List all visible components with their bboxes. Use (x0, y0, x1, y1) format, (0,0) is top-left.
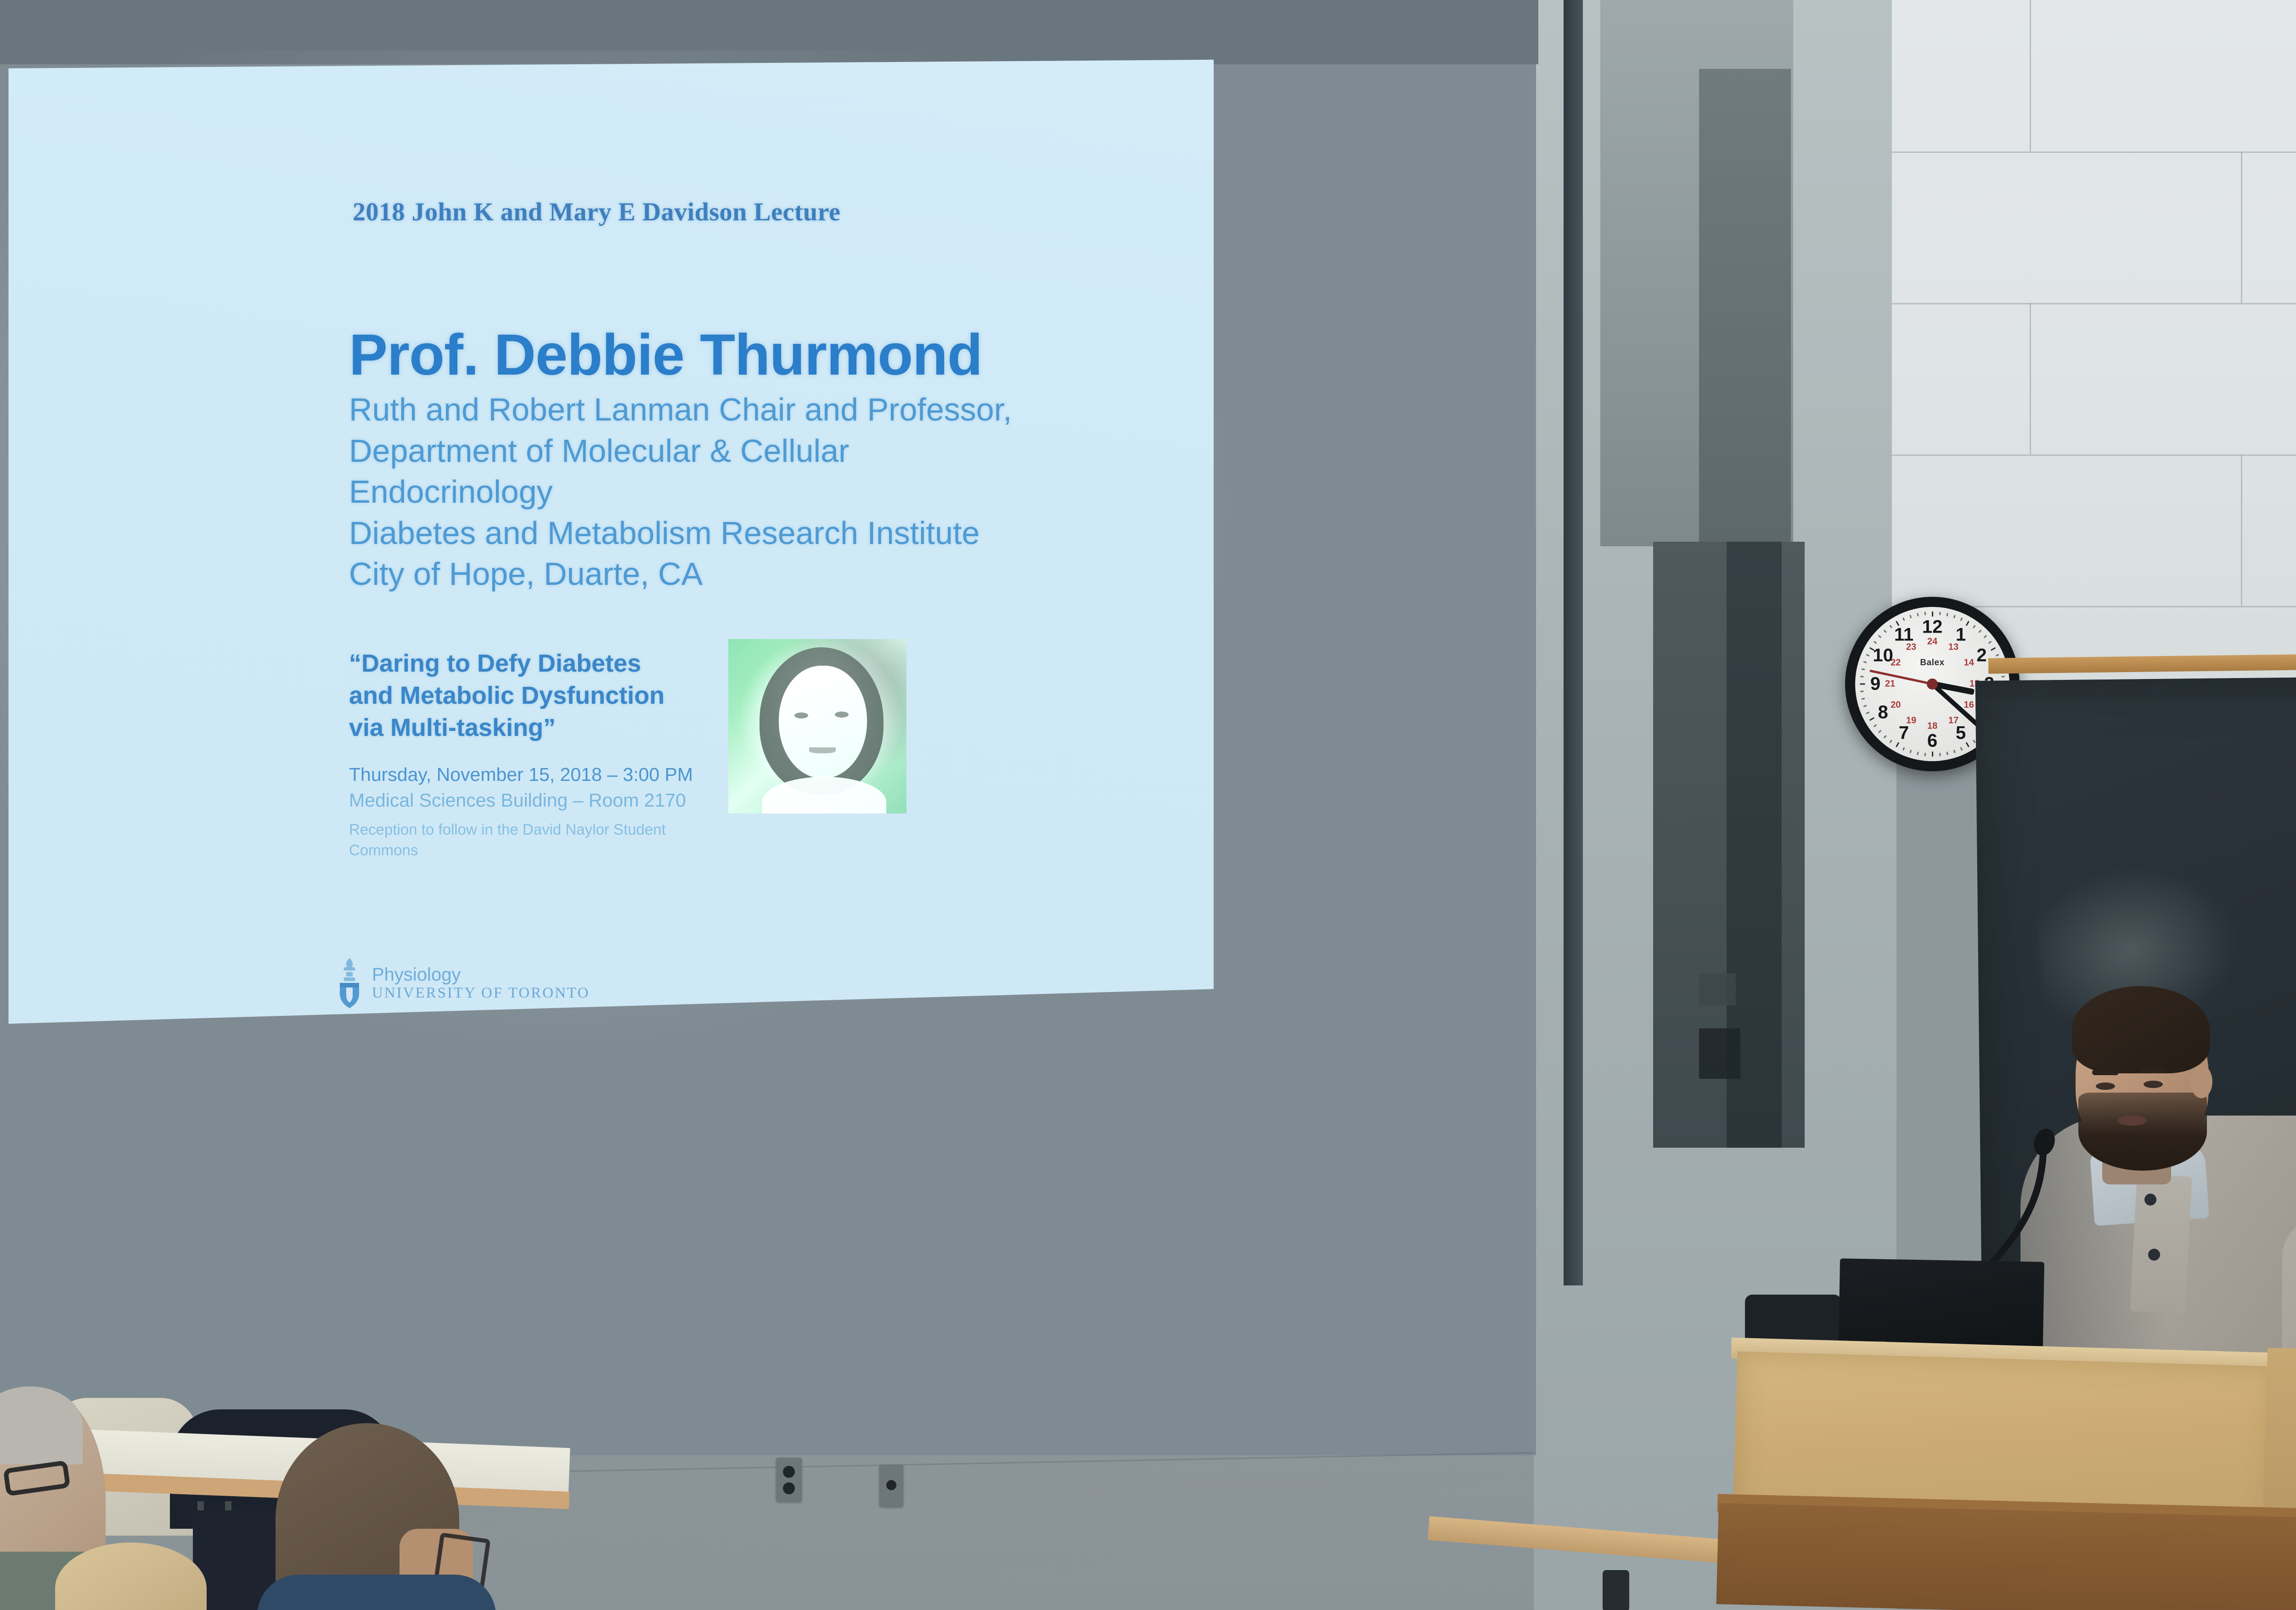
jack-port (886, 1480, 896, 1490)
portrait-eye-right (835, 712, 849, 718)
clock-tick (1902, 747, 1905, 751)
projected-slide: 2018 John K and Mary E Davidson Lecture … (4, 60, 1214, 1024)
speaker-beard (2078, 1093, 2207, 1171)
clock-tick (1889, 740, 1892, 743)
speaker-ear (2190, 1065, 2212, 1098)
clock-tick (1860, 684, 1865, 685)
speaker-button-placket (2130, 1174, 2192, 1314)
speaker-brow-left (2092, 1070, 2119, 1075)
single-port-wall-jack[interactable] (879, 1464, 903, 1507)
clock-tick (1883, 630, 1886, 633)
clock-brand-label: Balex (1920, 658, 1944, 668)
clock-tick (1960, 617, 1963, 621)
clock-numeral-6: 6 (1927, 731, 1937, 752)
speaker-brow-right (2140, 1068, 2167, 1073)
speaker-button-top (2144, 1194, 2156, 1206)
doorway-recess (1699, 69, 1791, 546)
clock-numeral24-24: 24 (1927, 637, 1937, 647)
clock-tick (1873, 641, 1876, 644)
clock-tick (1995, 654, 1999, 656)
clock-tick (2001, 676, 2004, 678)
clock-numeral-2: 2 (1976, 645, 1986, 666)
clock-numeral24-13: 13 (1948, 642, 1958, 653)
clock-numeral-12: 12 (1922, 617, 1943, 638)
duplex-power-outlet[interactable] (776, 1458, 802, 1502)
clock-tick (1861, 698, 1864, 700)
clock-tick (1866, 712, 1869, 714)
door-frame (1564, 0, 1583, 1285)
clock-tick (1866, 654, 1869, 656)
portrait-eye-left (794, 712, 808, 718)
slide-speaker-name: Prof. Debbie Thurmond (349, 321, 982, 388)
clock-tick (1953, 750, 1955, 753)
speaker-button-bottom (2148, 1249, 2160, 1261)
clock-tick (1991, 647, 1996, 651)
clock-tick (1965, 742, 1969, 747)
slide-date-time: Thursday, November 15, 2018 – 3:00 PM (349, 762, 698, 788)
clock-tick (1946, 613, 1948, 616)
affiliation-line-5: City of Hope, Duarte, CA (349, 554, 1012, 595)
clock-tick (1860, 690, 1863, 692)
clock-tick (1983, 635, 1986, 638)
clock-tick (1873, 724, 1876, 728)
speaker-eye-left (2096, 1083, 2115, 1090)
uoft-physiology-logo: Physiology UNIVERSITY OF TORONTO (335, 957, 590, 1009)
clock-tick (1860, 676, 1863, 678)
clock-numeral24-19: 19 (1906, 715, 1916, 726)
clock-numeral24-14: 14 (1964, 658, 1974, 668)
slide-speaker-portrait (728, 639, 906, 813)
clock-tick (1988, 641, 1991, 644)
affiliation-line-3: Endocrinology (349, 471, 1012, 513)
clock-tick (1878, 730, 1881, 733)
clock-tick (1902, 617, 1905, 621)
wall-sign-plate-lower (1699, 1028, 1740, 1079)
affiliation-line-2: Department of Molecular & Cellular (349, 431, 1012, 472)
clock-numeral24-22: 22 (1891, 658, 1901, 668)
clock-numeral-5: 5 (1956, 723, 1966, 744)
clock-tick (1917, 752, 1919, 755)
clock-tick (1889, 625, 1892, 628)
wall-sign-plate-upper (1699, 973, 1736, 1005)
clock-tick (1863, 705, 1867, 707)
clock-numeral24-20: 20 (1891, 700, 1901, 711)
clock-tick (1932, 611, 1933, 617)
clock-tick (1883, 735, 1886, 738)
clock-tick (1939, 612, 1941, 615)
clock-numeral-7: 7 (1899, 723, 1909, 744)
clock-center-cap (1927, 679, 1938, 690)
speaker-eye-right (2144, 1081, 2163, 1088)
clock-tick (1863, 661, 1867, 663)
slide-eyebrow-lecture-series: 2018 John K and Mary E Davidson Lecture (353, 197, 840, 227)
slide-affiliation: Ruth and Robert Lanman Chair and Profess… (349, 389, 1012, 595)
clock-tick (1909, 750, 1912, 753)
clock-tick (1924, 612, 1926, 615)
lecture-hall-scene: 2018 John K and Mary E Davidson Lecture … (0, 0, 2296, 1610)
clock-tick (1973, 740, 1976, 743)
clock-tick (1973, 625, 1976, 628)
clock-numeral24-16: 16 (1964, 700, 1974, 711)
clock-tick (1965, 621, 1969, 626)
outlet-socket-lower (783, 1482, 795, 1494)
clock-numeral24-23: 23 (1906, 642, 1916, 653)
outlet-socket-upper (783, 1466, 795, 1478)
clock-numeral24-18: 18 (1927, 721, 1937, 732)
portrait-mouth (809, 747, 836, 753)
clock-tick (1861, 668, 1864, 670)
clock-numeral-10: 10 (1873, 645, 1893, 666)
speaker-mouth (2118, 1116, 2146, 1126)
clock-numeral-8: 8 (1878, 702, 1888, 723)
slide-content: 2018 John K and Mary E Davidson Lecture … (4, 60, 1214, 1024)
clock-tick (1932, 752, 1933, 757)
clock-tick (1924, 753, 1926, 756)
portrait-shoulders (762, 777, 886, 813)
logo-university: UNIVERSITY OF TORONTO (372, 986, 590, 1001)
projection-screen-header-bar (0, 0, 1538, 64)
slide-reception-note: Reception to follow in the David Naylor … (349, 819, 712, 861)
clock-numeral24-21: 21 (1885, 679, 1895, 690)
clock-tick (1878, 635, 1881, 638)
logo-department: Physiology (372, 965, 590, 984)
rail-stand-post (1603, 1570, 1629, 1610)
clock-numeral-9: 9 (1870, 674, 1880, 695)
clock-tick (1909, 615, 1912, 618)
affiliation-line-1: Ruth and Robert Lanman Chair and Profess… (349, 389, 1012, 431)
audience-shoulders-blue (257, 1575, 496, 1610)
portrait-face (779, 666, 867, 779)
speaker-hair (2072, 986, 2210, 1073)
clock-tick (1939, 753, 1941, 756)
clock-tick (1946, 752, 1948, 755)
slide-talk-title: “Daring to Defy Diabetes and Metabolic D… (349, 647, 680, 744)
clock-tick (1978, 630, 1981, 633)
affiliation-line-4: Diabetes and Metabolism Research Institu… (349, 513, 1012, 554)
clock-numeral24-17: 17 (1948, 715, 1958, 726)
podium-base (1716, 1503, 2296, 1610)
clock-tick (1869, 717, 1874, 721)
slide-event-details: Thursday, November 15, 2018 – 3:00 PM Me… (349, 762, 698, 813)
logo-wordmark: Physiology UNIVERSITY OF TORONTO (372, 965, 590, 1001)
clock-tick (1917, 613, 1919, 616)
uoft-shield-crest-icon (335, 957, 364, 1009)
slide-location: Medical Sciences Building – Room 2170 (349, 788, 698, 813)
clock-tick (1953, 615, 1955, 618)
clock-tick (1960, 747, 1963, 751)
